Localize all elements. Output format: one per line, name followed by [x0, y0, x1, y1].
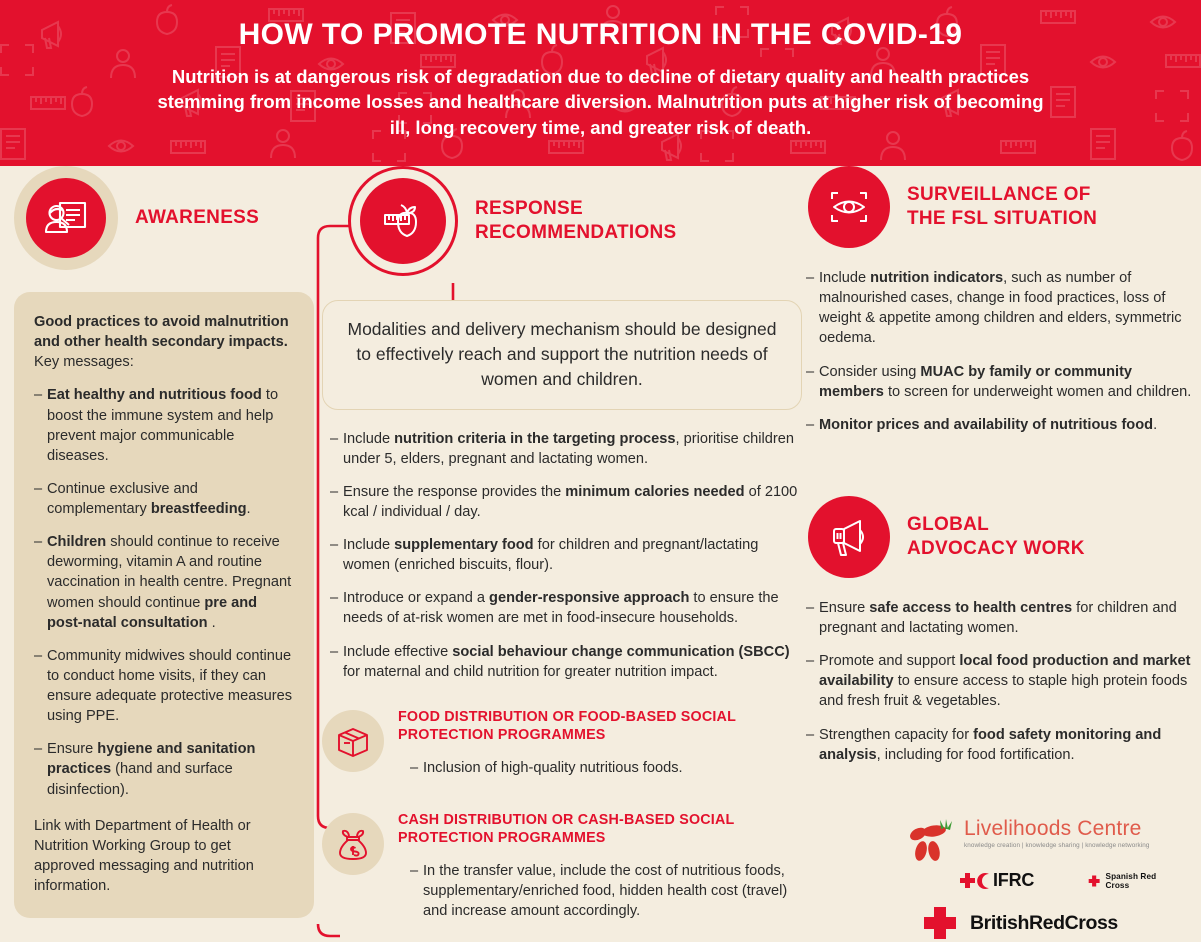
bullet-text: Ensure	[47, 741, 97, 757]
cash-distribution-list: In the transfer value, include the cost …	[398, 861, 802, 921]
list-item: Inclusion of high-quality nutritious foo…	[410, 758, 802, 778]
food-distribution-title: FOOD DISTRIBUTION OR FOOD-BASED SOCIAL P…	[398, 708, 802, 745]
response-header: RESPONSE RECOMMENDATIONS	[348, 166, 802, 276]
list-item: Ensure hygiene and sanitation practices …	[34, 739, 292, 799]
cash-distribution-icon-badge	[322, 813, 384, 875]
response-icon-badge	[348, 166, 458, 276]
tag-sharing: knowledge sharing	[1026, 842, 1080, 849]
list-item: Include nutrition indicators, such as nu…	[806, 268, 1194, 349]
cash-distribution-section: CASH DISTRIBUTION OR CASH-BASED SOCIAL P…	[322, 811, 802, 922]
page-header: HOW TO PROMOTE NUTRITION IN THE COVID-19…	[0, 0, 1201, 166]
bullet-text: Promote and support	[819, 653, 959, 669]
list-item: Children should continue to receive dewo…	[34, 532, 292, 633]
list-item: Ensure the response provides the minimum…	[330, 482, 802, 522]
food-distribution-list: Inclusion of high-quality nutritious foo…	[398, 758, 802, 778]
bullet-bold: social behaviour change communication (S…	[452, 644, 789, 660]
bullet-text: .	[208, 615, 216, 631]
partner-logos-row: IFRC Spanish Red Cross	[960, 870, 1158, 891]
list-item: Include supplementary food for children …	[330, 535, 802, 575]
awareness-lead: Good practices to avoid malnutrition and…	[34, 312, 292, 372]
bullet-text: to screen for underweight women and chil…	[884, 384, 1191, 400]
list-item: Consider using MUAC by family or communi…	[806, 362, 1194, 402]
response-bullet-list: Include nutrition criteria in the target…	[322, 429, 802, 682]
bullet-text: Include effective	[343, 644, 452, 660]
awareness-card: Good practices to avoid malnutrition and…	[14, 292, 314, 918]
bullet-bold: supplementary food	[394, 537, 533, 553]
awareness-closing-note: Link with Department of Health or Nutrit…	[34, 816, 292, 897]
list-item: In the transfer value, include the cost …	[410, 861, 802, 921]
list-item: Promote and support local food productio…	[806, 651, 1194, 711]
bullet-text: Introduce or expand a	[343, 590, 489, 606]
livelihoods-tagline: knowledge creation | knowledge sharing |…	[964, 842, 1150, 849]
awareness-title: AWARENESS	[135, 206, 259, 230]
bullet-text: Consider using	[819, 364, 920, 380]
surveillance-bullet-list: Include nutrition indicators, such as nu…	[798, 268, 1194, 435]
eye-focus-icon	[826, 184, 872, 230]
box-package-icon	[335, 723, 371, 759]
tag-networking: knowledge networking	[1085, 842, 1149, 849]
bullet-text: .	[1153, 417, 1157, 433]
response-callout: Modalities and delivery mechanism should…	[322, 300, 802, 410]
money-bag-icon	[335, 826, 371, 862]
page-subtitle: Nutrition is at dangerous risk of degrad…	[151, 64, 1051, 141]
apple-ruler-icon	[377, 195, 429, 247]
bullet-bold: Monitor prices and availability of nutri…	[819, 417, 1153, 433]
awareness-header: AWARENESS	[14, 166, 314, 270]
spanish-red-cross-logo: Spanish Red Cross	[1088, 872, 1158, 890]
logo-block: Livelihoods Centre knowledge creation | …	[908, 818, 1158, 941]
bullet-bold: nutrition criteria in the targeting proc…	[394, 431, 675, 447]
british-red-cross-logo: BritishRedCross	[922, 905, 1158, 941]
tag-creation: knowledge creation	[964, 842, 1020, 849]
bullet-bold: minimum calories needed	[565, 484, 744, 500]
spanish-red-cross-label: Spanish Red Cross	[1106, 872, 1158, 890]
bullet-text: .	[247, 501, 251, 517]
section-spacer	[798, 448, 1194, 496]
advocacy-icon-badge	[808, 496, 890, 578]
surveillance-title: SURVEILLANCE OF THE FSL SITUATION	[907, 183, 1097, 231]
advocacy-header: GLOBAL ADVOCACY WORK	[808, 496, 1194, 578]
bullet-text: for maternal and child nutrition for gre…	[343, 664, 718, 680]
list-item: Ensure safe access to health centres for…	[806, 598, 1194, 638]
food-distribution-icon-badge	[322, 710, 384, 772]
megaphone-icon	[826, 514, 872, 560]
bullet-text: , including for food fortification.	[877, 747, 1075, 763]
list-item: Strengthen capacity for food safety moni…	[806, 725, 1194, 765]
advocacy-bullet-list: Ensure safe access to health centres for…	[798, 598, 1194, 765]
bullet-text: Ensure	[819, 600, 869, 616]
ifrc-cross-crescent-icon	[960, 871, 990, 891]
list-item: Eat healthy and nutritious food to boost…	[34, 385, 292, 466]
awareness-column: AWARENESS Good practices to avoid malnut…	[14, 166, 314, 918]
awareness-lead-rest: Key messages:	[34, 354, 134, 370]
list-item: Include nutrition criteria in the target…	[330, 429, 802, 469]
awareness-bullet-list: Eat healthy and nutritious food to boost…	[34, 385, 292, 799]
livelihoods-logo: Livelihoods Centre knowledge creation | …	[908, 818, 1158, 864]
bullet-bold: Eat healthy and nutritious food	[47, 387, 262, 403]
bullet-bold: gender-responsive approach	[489, 590, 689, 606]
british-red-cross-label: BritishRedCross	[970, 912, 1118, 935]
surveillance-advocacy-column: SURVEILLANCE OF THE FSL SITUATION Includ…	[798, 166, 1194, 778]
cash-distribution-title: CASH DISTRIBUTION OR CASH-BASED SOCIAL P…	[398, 811, 802, 848]
bullet-text: Ensure the response provides the	[343, 484, 565, 500]
bullet-text: Community midwives should continue to co…	[47, 648, 292, 724]
bullet-bold: Children	[47, 534, 106, 550]
red-cross-icon	[922, 905, 958, 941]
bullet-bold: nutrition indicators	[870, 270, 1003, 286]
awareness-icon-badge	[14, 166, 118, 270]
ifrc-logo: IFRC	[960, 870, 1034, 891]
advocacy-title: GLOBAL ADVOCACY WORK	[907, 513, 1085, 561]
red-cross-icon	[1088, 872, 1100, 890]
bullet-bold: safe access to health centres	[869, 600, 1072, 616]
livelihoods-flower-icon	[908, 818, 958, 864]
livelihoods-wordmark: Livelihoods Centre	[964, 818, 1150, 839]
bullet-text: Include	[819, 270, 870, 286]
list-item: Monitor prices and availability of nutri…	[806, 415, 1194, 435]
list-item: Community midwives should continue to co…	[34, 646, 292, 727]
bullet-text: Include	[343, 537, 394, 553]
list-item: Introduce or expand a gender-responsive …	[330, 588, 802, 628]
list-item: Include effective social behaviour chang…	[330, 642, 802, 682]
response-column: RESPONSE RECOMMENDATIONS Modalities and …	[322, 166, 802, 921]
bullet-text: Strengthen capacity for	[819, 727, 973, 743]
bullet-bold: breastfeeding	[151, 501, 247, 517]
surveillance-icon-badge	[808, 166, 890, 248]
food-distribution-section: FOOD DISTRIBUTION OR FOOD-BASED SOCIAL P…	[322, 708, 802, 779]
bullet-text: Include	[343, 431, 394, 447]
ifrc-label: IFRC	[993, 870, 1034, 891]
awareness-lead-bold: Good practices to avoid malnutrition and…	[34, 314, 289, 350]
list-item: Continue exclusive and complementary bre…	[34, 479, 292, 519]
surveillance-header: SURVEILLANCE OF THE FSL SITUATION	[808, 166, 1194, 248]
presentation-person-icon	[42, 194, 90, 242]
response-title: RESPONSE RECOMMENDATIONS	[475, 197, 677, 245]
page-title: HOW TO PROMOTE NUTRITION IN THE COVID-19	[78, 18, 1123, 53]
